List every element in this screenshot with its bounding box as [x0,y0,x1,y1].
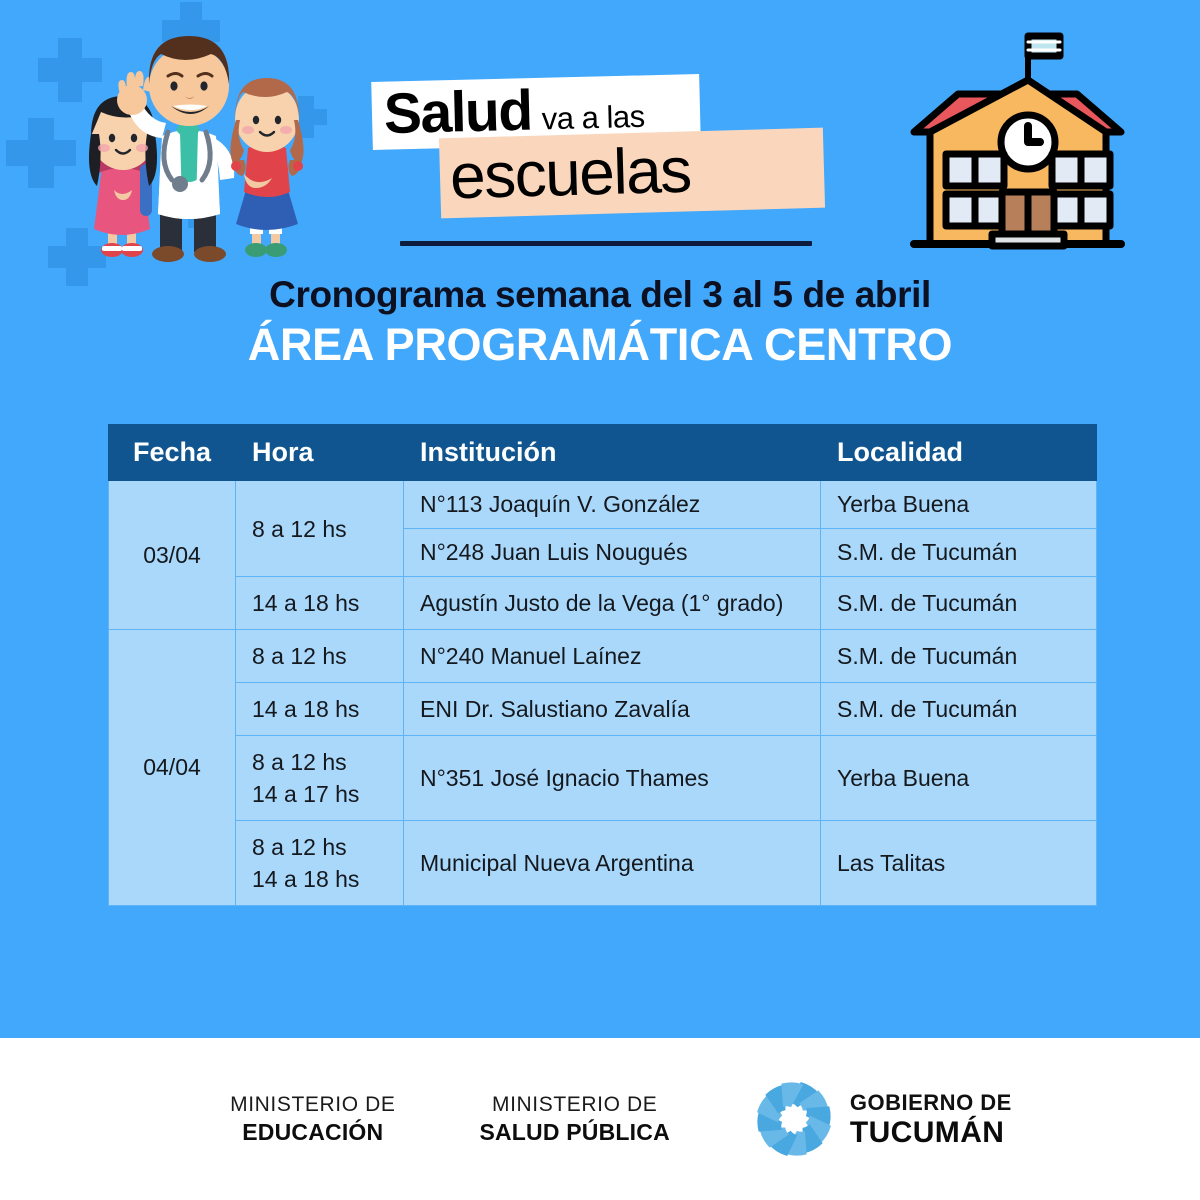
cell-hora: 8 a 12 hs 14 a 18 hs [236,821,404,906]
cell-institucion: N°351 José Ignacio Thames [404,736,821,821]
heading-block: Cronograma semana del 3 al 5 de abril ÁR… [0,272,1200,372]
table-row: 8 a 12 hs 14 a 18 hs Municipal Nueva Arg… [109,821,1097,906]
column-header-hora: Hora [236,425,404,481]
column-header-fecha: Fecha [109,425,236,481]
cell-localidad: Yerba Buena [821,481,1097,529]
cell-localidad: S.M. de Tucumán [821,529,1097,577]
tucuman-swirl-icon [752,1077,836,1161]
column-header-localidad: Localidad [821,425,1097,481]
logo-ministerio-salud: MINISTERIO DE SALUD PÚBLICA [437,1091,711,1147]
cell-institucion: N°240 Manuel Laínez [404,630,821,683]
table-row: 14 a 18 hs ENI Dr. Salustiano Zavalía S.… [109,683,1097,736]
schedule-table-wrapper: Fecha Hora Institución Localidad 03/04 8… [108,424,1096,906]
cell-localidad: S.M. de Tucumán [821,630,1097,683]
cell-institucion: N°113 Joaquín V. González [404,481,821,529]
cell-localidad: S.M. de Tucumán [821,577,1097,630]
ministerio-educacion-line2: EDUCACIÓN [230,1118,395,1147]
doctor-and-children-illustration [28,14,338,274]
table-row: 14 a 18 hs Agustín Justo de la Vega (1° … [109,577,1097,630]
cell-hora: 8 a 12 hs [236,630,404,683]
table-header-row: Fecha Hora Institución Localidad [109,425,1097,481]
cell-hora: 14 a 18 hs [236,577,404,630]
cell-localidad: Yerba Buena [821,736,1097,821]
cell-hora: 8 a 12 hs 14 a 17 hs [236,736,404,821]
girl-right [230,78,303,257]
logo-gobierno-tucuman: GOBIERNO DE TUCUMÁN [712,1077,1012,1161]
school-building-illustration [900,22,1135,262]
ministerio-salud-line2: SALUD PÚBLICA [479,1118,669,1147]
brand-logo: Salud va a las escuelas [372,78,842,258]
table-row: 04/04 8 a 12 hs N°240 Manuel Laínez S.M.… [109,630,1097,683]
footer-bar: MINISTERIO DE EDUCACIÓN MINISTERIO DE SA… [0,1038,1200,1200]
poster-root: Salud va a las escuelas [0,0,1200,1200]
cell-localidad: S.M. de Tucumán [821,683,1097,736]
logo-ministerio-educacion: MINISTERIO DE EDUCACIÓN [188,1091,437,1147]
table-row: 03/04 8 a 12 hs N°113 Joaquín V. Gonzále… [109,481,1097,529]
cell-localidad: Las Talitas [821,821,1097,906]
logo-word-escuelas: escuelas [449,131,692,216]
gobierno-text: GOBIERNO DE TUCUMÁN [850,1089,1012,1150]
gobierno-line1: GOBIERNO DE [850,1089,1012,1116]
table-row: 8 a 12 hs 14 a 17 hs N°351 José Ignacio … [109,736,1097,821]
cell-hora: 8 a 12 hs [236,481,404,577]
schedule-table-body: 03/04 8 a 12 hs N°113 Joaquín V. Gonzále… [109,481,1097,906]
cell-institucion: N°248 Juan Luis Nougués [404,529,821,577]
cell-institucion: Municipal Nueva Argentina [404,821,821,906]
cell-hora: 14 a 18 hs [236,683,404,736]
cell-fecha: 04/04 [109,630,236,906]
cell-fecha: 03/04 [109,481,236,630]
page-title: ÁREA PROGRAMÁTICA CENTRO [0,318,1200,372]
schedule-table: Fecha Hora Institución Localidad 03/04 8… [108,424,1097,906]
cell-institucion: Agustín Justo de la Vega (1° grado) [404,577,821,630]
schedule-subtitle: Cronograma semana del 3 al 5 de abril [0,272,1200,318]
cell-institucion: ENI Dr. Salustiano Zavalía [404,683,821,736]
hero-panel: Salud va a las escuelas [0,0,1200,1038]
column-header-institucion: Institución [404,425,821,481]
ministerio-educacion-line1: MINISTERIO DE [230,1091,395,1118]
ministerio-salud-line1: MINISTERIO DE [479,1091,669,1118]
logo-underline-rule [400,241,812,246]
gobierno-line2: TUCUMÁN [850,1116,1012,1150]
